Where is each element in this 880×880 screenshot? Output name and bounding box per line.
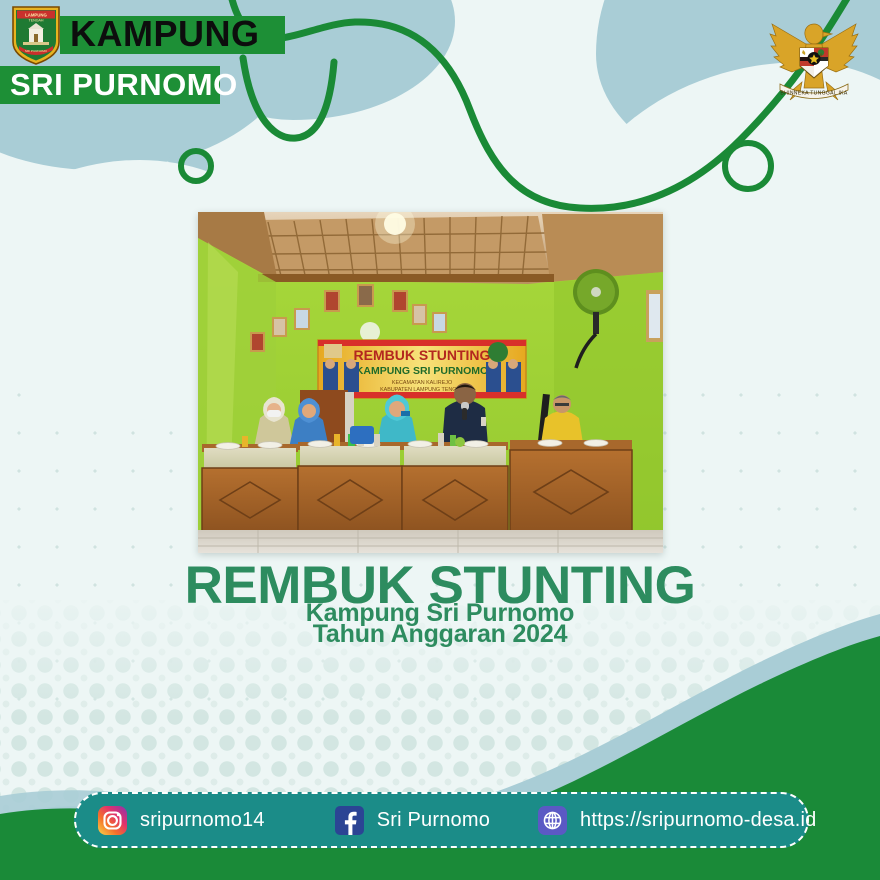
website-url-label: https://sripurnomo-desa.id [580,809,816,832]
svg-text:REMBUK STUNTING: REMBUK STUNTING [354,347,491,363]
instagram-handle-label: sripurnomo14 [140,809,265,832]
garuda-pancasila-emblem-icon: BHINNEKA TUNGGAL IKA [762,8,866,112]
instagram-icon [98,806,127,835]
svg-text:KABUPATEN LAMPUNG TENGAH: KABUPATEN LAMPUNG TENGAH [380,387,464,393]
social-footer-bar: sripurnomo14 Sri Purnomo https://sripurn… [74,792,809,848]
lampung-tengah-coat-of-arms-icon: LAMPUNG TENGAH SRI PURNOMO [10,4,62,66]
page-subtitle-year: Tahun Anggaran 2024 [0,620,880,648]
event-photo: REMBUK STUNTING KAMPUNG SRI PURNOMO KECA… [198,212,663,553]
poster-canvas: KAMPUNG SRI PURNOMO LAMPUNG TENGAH SRI P… [0,0,880,880]
decorative-ring-left [178,148,214,184]
globe-icon [538,806,567,835]
svg-text:BHINNEKA TUNGGAL IKA: BHINNEKA TUNGGAL IKA [780,91,847,97]
facebook-icon [335,806,364,835]
svg-text:LAMPUNG: LAMPUNG [25,13,47,18]
footer-facebook[interactable]: Sri Purnomo [335,794,490,846]
footer-instagram[interactable]: sripurnomo14 [98,794,265,846]
decorative-ring-right [722,140,774,192]
facebook-page-label: Sri Purnomo [377,809,490,832]
svg-text:TENGAH: TENGAH [29,19,44,23]
svg-text:KECAMATAN KALIREJO: KECAMATAN KALIREJO [392,380,452,386]
banner-sri-purnomo-label: SRI PURNOMO [10,65,238,105]
svg-text:KAMPUNG SRI PURNOMO: KAMPUNG SRI PURNOMO [356,365,488,377]
banner-kampung-label: KAMPUNG [70,14,260,54]
footer-website[interactable]: https://sripurnomo-desa.id [538,794,816,846]
event-photo-image: REMBUK STUNTING KAMPUNG SRI PURNOMO KECA… [198,212,663,553]
svg-text:SRI PURNOMO: SRI PURNOMO [25,49,48,53]
